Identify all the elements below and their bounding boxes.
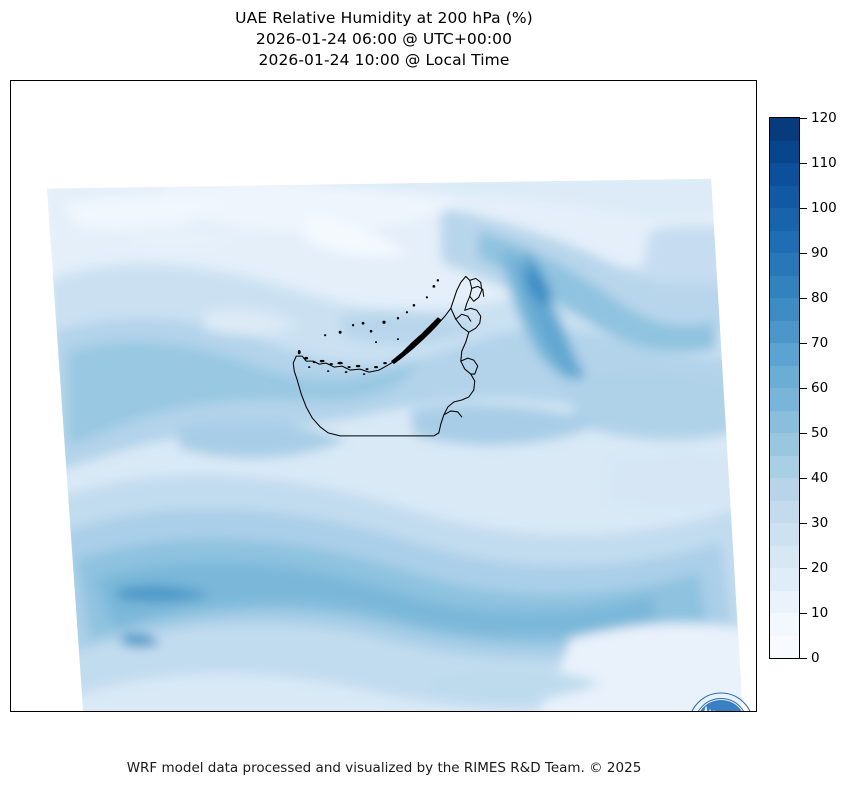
humidity-field-svg bbox=[11, 81, 756, 711]
colorbar-band bbox=[770, 231, 799, 254]
colorbar-axis: 0102030405060708090100110120 bbox=[800, 117, 844, 659]
colorbar-band bbox=[770, 118, 799, 141]
colorbar-tick-mark bbox=[800, 208, 807, 209]
colorbar-tick-mark bbox=[800, 568, 807, 569]
colorbar-tick-mark bbox=[800, 343, 807, 344]
map-plot-area: Regional Integrated Multi-Hazard Early W… bbox=[10, 80, 757, 712]
colorbar-tick-label: 80 bbox=[811, 290, 828, 306]
colorbar-tick-mark bbox=[800, 388, 807, 389]
colorbar-band bbox=[770, 546, 799, 569]
colorbar-tick-mark bbox=[800, 613, 807, 614]
colorbar-band bbox=[770, 613, 799, 636]
colorbar-band bbox=[770, 253, 799, 276]
colorbar-band bbox=[770, 501, 799, 524]
colorbar-tick-label: 110 bbox=[811, 155, 837, 171]
footer-attribution: WRF model data processed and visualized … bbox=[0, 760, 768, 776]
colorbar-tick-mark bbox=[800, 433, 807, 434]
colorbar-tick-mark bbox=[800, 658, 807, 659]
colorbar-tick-label: 40 bbox=[811, 470, 828, 486]
colorbar-tick-label: 50 bbox=[811, 425, 828, 441]
colorbar-band bbox=[770, 276, 799, 299]
colorbar-tick-label: 120 bbox=[811, 110, 837, 126]
colorbar-tick-label: 30 bbox=[811, 515, 828, 531]
colorbar-tick-label: 0 bbox=[811, 650, 820, 666]
contour-band-group bbox=[41, 173, 751, 711]
colorbar: 0102030405060708090100110120 bbox=[769, 117, 844, 662]
colorbar-band bbox=[770, 298, 799, 321]
colorbar-band bbox=[770, 411, 799, 434]
colorbar-gradient bbox=[769, 117, 800, 659]
colorbar-tick-mark bbox=[800, 298, 807, 299]
colorbar-tick-label: 100 bbox=[811, 200, 837, 216]
colorbar-band bbox=[770, 321, 799, 344]
humidity-contour-canvas bbox=[11, 81, 756, 711]
colorbar-tick-label: 10 bbox=[811, 605, 828, 621]
colorbar-band bbox=[770, 186, 799, 209]
title-line-variable: UAE Relative Humidity at 200 hPa (%) bbox=[0, 8, 768, 29]
colorbar-band bbox=[770, 568, 799, 591]
colorbar-band bbox=[770, 163, 799, 186]
colorbar-band bbox=[770, 343, 799, 366]
colorbar-band bbox=[770, 456, 799, 479]
colorbar-tick-mark bbox=[800, 523, 807, 524]
colorbar-tick-mark bbox=[800, 253, 807, 254]
chart-title: UAE Relative Humidity at 200 hPa (%) 202… bbox=[0, 8, 768, 71]
colorbar-band bbox=[770, 388, 799, 411]
colorbar-band bbox=[770, 433, 799, 456]
colorbar-tick-label: 90 bbox=[811, 245, 828, 261]
colorbar-band bbox=[770, 523, 799, 546]
colorbar-tick-label: 70 bbox=[811, 335, 828, 351]
colorbar-band bbox=[770, 366, 799, 389]
title-line-local-time: 2026-01-24 10:00 @ Local Time bbox=[0, 50, 768, 71]
title-line-utc-time: 2026-01-24 06:00 @ UTC+00:00 bbox=[0, 29, 768, 50]
colorbar-band bbox=[770, 141, 799, 164]
colorbar-band bbox=[770, 478, 799, 501]
colorbar-band bbox=[770, 636, 799, 659]
colorbar-tick-label: 20 bbox=[811, 560, 828, 576]
colorbar-band bbox=[770, 208, 799, 231]
colorbar-tick-mark bbox=[800, 118, 807, 119]
colorbar-tick-label: 60 bbox=[811, 380, 828, 396]
colorbar-tick-mark bbox=[800, 478, 807, 479]
colorbar-band bbox=[770, 591, 799, 614]
colorbar-tick-mark bbox=[800, 163, 807, 164]
